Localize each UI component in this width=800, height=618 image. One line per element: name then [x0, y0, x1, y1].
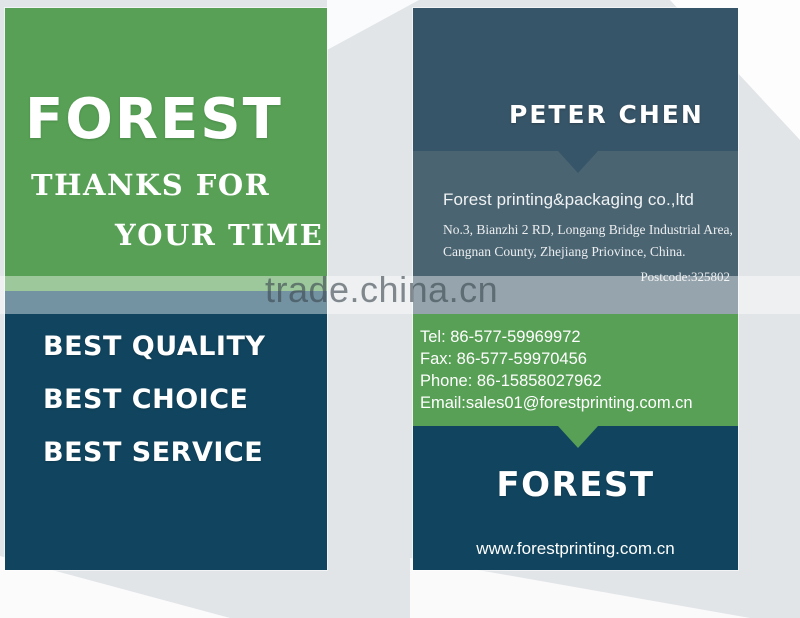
left-card-promise-list: BEST QUALITY BEST CHOICE BEST SERVICE: [43, 333, 265, 466]
left-card-thanks-line-2: YOUR TIME: [115, 221, 323, 250]
left-card-thanks-line-1: THANKS FOR: [31, 171, 270, 200]
left-card-brand-title: FOREST: [25, 92, 283, 148]
contact-phone: Phone: 86-15858027962: [420, 370, 693, 392]
right-card-header-panel: [413, 8, 738, 151]
promise-item-quality: BEST QUALITY: [43, 333, 265, 360]
right-card-brand-title: FOREST: [413, 468, 738, 502]
company-address: No.3, Bianzhi 2 RD, Longang Bridge Indus…: [443, 219, 733, 263]
left-card: FOREST THANKS FOR YOUR TIME BEST QUALITY…: [5, 8, 327, 570]
company-postcode: Postcode:325802: [640, 270, 730, 283]
company-name: Forest printing&packaging co.,ltd: [443, 191, 694, 208]
business-card-banner: FOREST THANKS FOR YOUR TIME BEST QUALITY…: [0, 0, 800, 618]
contact-person-name: PETER CHEN: [509, 102, 704, 127]
contact-email: Email:sales01@forestprinting.com.cn: [420, 392, 693, 414]
company-website: www.forestprinting.com.cn: [413, 540, 738, 557]
address-line-2: Cangnan County, Zhejiang Priovince, Chin…: [443, 241, 733, 263]
contact-fax: Fax: 86-577-59970456: [420, 348, 693, 370]
contact-details-block: Tel: 86-577-59969972 Fax: 86-577-5997045…: [420, 326, 693, 414]
address-line-1: No.3, Bianzhi 2 RD, Longang Bridge Indus…: [443, 219, 733, 241]
contact-tel: Tel: 86-577-59969972: [420, 326, 693, 348]
promise-item-service: BEST SERVICE: [43, 439, 265, 466]
promise-item-choice: BEST CHOICE: [43, 386, 265, 413]
right-card: PETER CHEN Forest printing&packaging co.…: [413, 8, 738, 570]
